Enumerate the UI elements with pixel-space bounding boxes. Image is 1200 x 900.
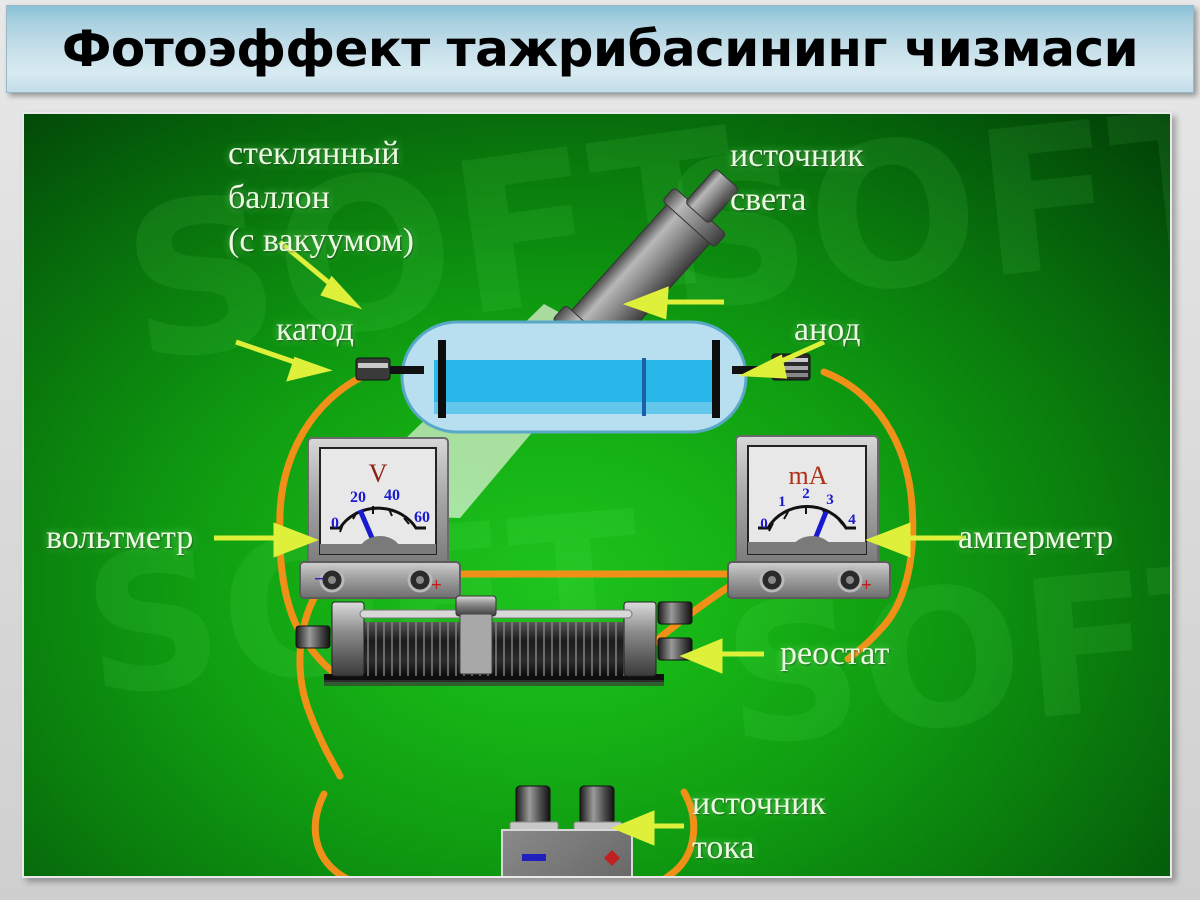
ammeter-plus-sign: + bbox=[861, 575, 872, 596]
ammeter-tick-0: 0 bbox=[760, 516, 768, 532]
diagram-stage: SOFT SOFT SOFT SOFT bbox=[22, 112, 1172, 878]
label-voltmeter: вольтметр bbox=[46, 516, 193, 560]
rheostat-terminal-left bbox=[296, 626, 330, 648]
battery-post-minus bbox=[516, 786, 550, 826]
ammeter-tick-4: 4 bbox=[848, 512, 856, 528]
voltmeter-unit: V bbox=[369, 459, 388, 488]
ammeter-tick-2: 2 bbox=[802, 486, 810, 502]
voltmeter-tick-20: 20 bbox=[350, 489, 366, 506]
battery-device[interactable] bbox=[502, 786, 632, 878]
label-cathode: катод bbox=[276, 308, 354, 352]
label-ammeter: амперметр bbox=[958, 516, 1113, 560]
slide-root: Фотоэффект тажрибасининг чизмаси SOFT SO… bbox=[0, 0, 1200, 900]
title-banner: Фотоэффект тажрибасининг чизмаси bbox=[6, 5, 1194, 93]
circuit-illustration: − + V 0 20 40 60 bbox=[24, 114, 1172, 878]
voltmeter-tick-0: 0 bbox=[331, 515, 339, 532]
label-rheostat: реостат bbox=[780, 632, 889, 676]
cathode-plate bbox=[438, 340, 446, 418]
rheostat-terminal-right-top bbox=[658, 602, 692, 624]
rheostat-device[interactable] bbox=[296, 596, 692, 686]
voltmeter-plus-sign: + bbox=[431, 575, 442, 596]
vacuum-tube bbox=[356, 322, 810, 432]
ammeter-tick-3: 3 bbox=[826, 492, 834, 508]
tube-terminal-left bbox=[356, 358, 390, 380]
anode-plate bbox=[712, 340, 720, 418]
voltmeter-tick-40: 40 bbox=[384, 487, 400, 504]
label-glass-balloon: стеклянный баллон (с вакуумом) bbox=[228, 132, 414, 263]
label-current-source: источник тока bbox=[692, 782, 826, 869]
ammeter-device[interactable]: + mA 0 1 2 3 4 bbox=[728, 436, 890, 598]
ammeter-tick-1: 1 bbox=[778, 494, 786, 510]
battery-post-plus bbox=[580, 786, 614, 826]
voltmeter-device[interactable]: − + V 0 20 40 60 bbox=[300, 438, 460, 598]
voltmeter-tick-60: 60 bbox=[414, 509, 430, 526]
page-title: Фотоэффект тажрибасининг чизмаси bbox=[62, 24, 1138, 74]
label-light-source: источник света bbox=[730, 134, 864, 221]
battery-minus-mark bbox=[522, 854, 546, 861]
label-anode: анод bbox=[794, 308, 861, 352]
voltmeter-minus-sign: − bbox=[314, 569, 325, 590]
